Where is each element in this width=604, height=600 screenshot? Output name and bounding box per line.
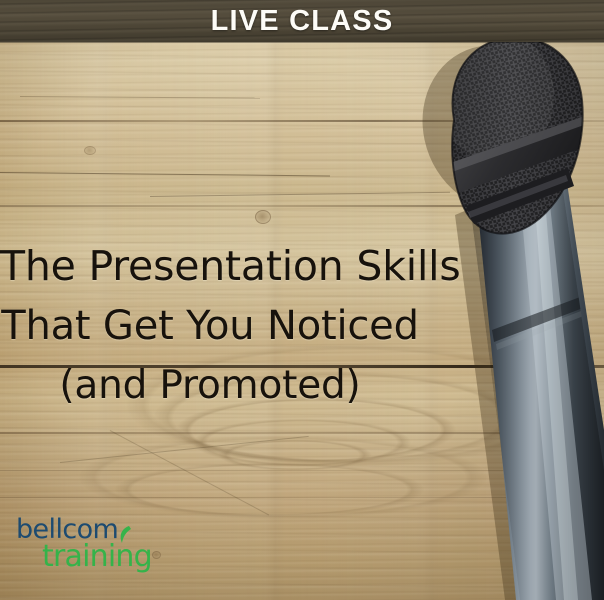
bellcom-training-logo[interactable]: bellcom training [16,516,152,572]
banner-title: LIVE CLASS [211,7,394,36]
leaf-swoosh-icon [118,525,132,545]
logo-word-bellcom: bellcom [16,516,118,543]
headline-line-2: That Get You Noticed [0,296,420,356]
logo-row-bottom: training [16,542,152,572]
headline-line-3: (and Promoted) [0,356,420,416]
live-class-banner: LIVE CLASS [0,0,604,42]
live-class-promo-card: LIVE CLASS The Presentation Skills That … [0,0,604,600]
logo-word-training: training [42,542,152,572]
headline-block: The Presentation Skills That Get You Not… [0,236,420,416]
headline-line-1: The Presentation Skills [0,236,420,296]
logo-row-top: bellcom [16,516,152,544]
